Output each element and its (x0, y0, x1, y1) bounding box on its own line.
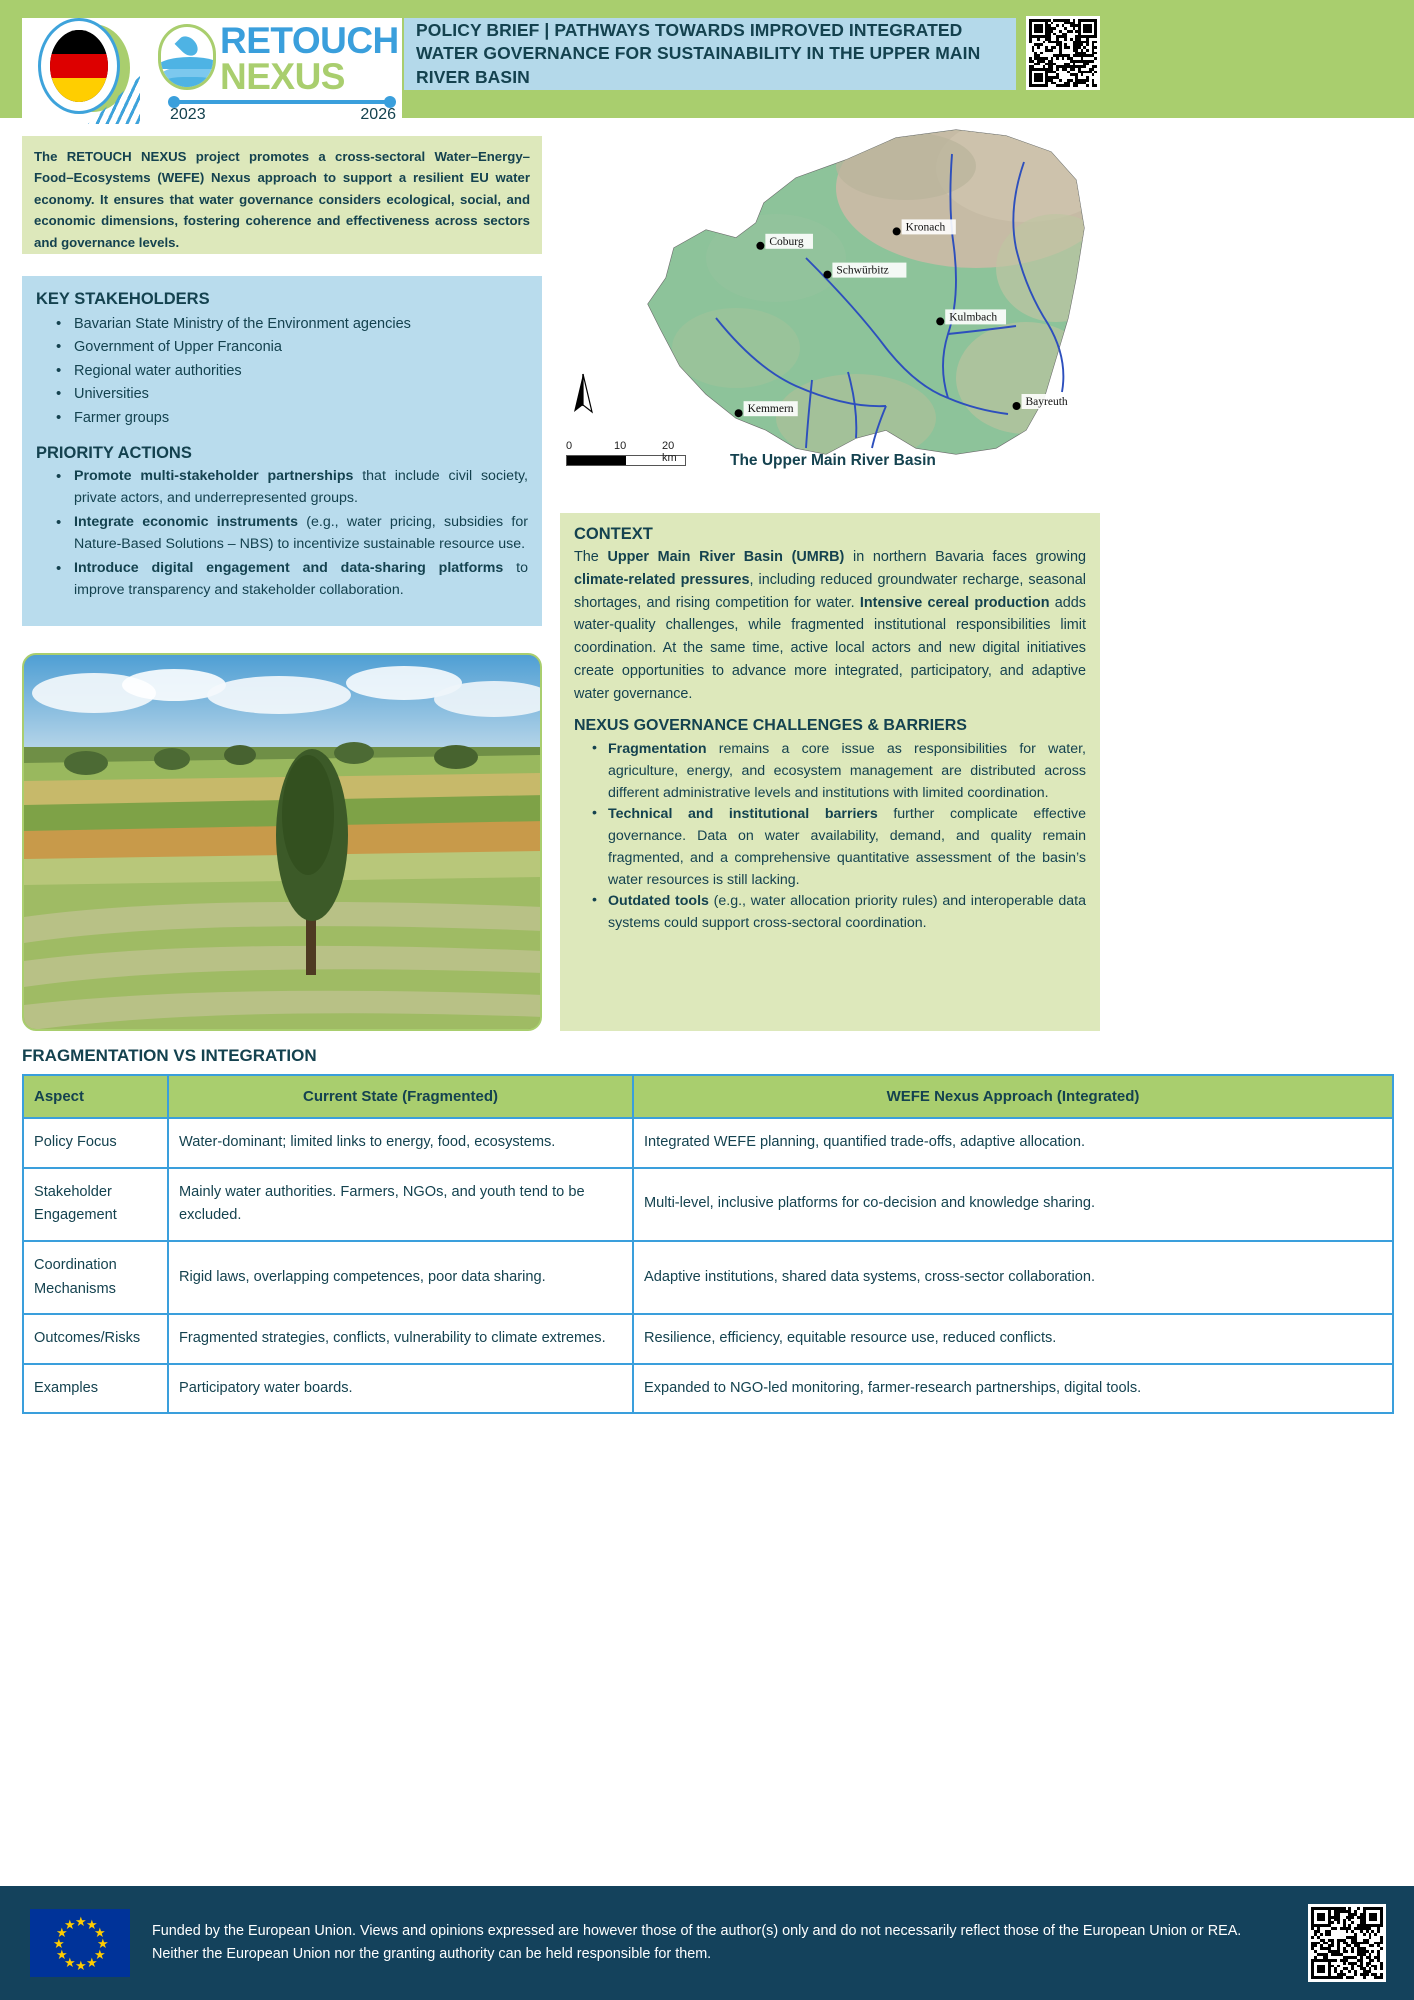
priority-action-item: Introduce digital engagement and data-sh… (54, 558, 528, 602)
page-title: POLICY BRIEF | PATHWAYS TOWARDS IMPROVED… (416, 19, 1004, 90)
table-cell-aspect: Policy Focus (23, 1118, 168, 1168)
challenge-item: Outdated tools (e.g., water allocation p… (590, 891, 1086, 934)
intro-text: The RETOUCH NEXUS project promotes a cro… (34, 146, 530, 253)
map-city-label: Kronach (906, 221, 946, 233)
project-intro-panel: The RETOUCH NEXUS project promotes a cro… (22, 136, 542, 254)
table-cell-current: Fragmented strategies, conflicts, vulner… (168, 1314, 633, 1364)
upper-main-river-basin-map: CoburgKronachSchwürbitzKulmbachKemmernBa… (556, 118, 1101, 478)
scale-label-max: 20 km (662, 440, 686, 464)
table-row: Policy FocusWater-dominant; limited link… (23, 1118, 1393, 1168)
stakeholder-item: Universities (54, 383, 528, 406)
context-panel: CONTEXT The Upper Main River Basin (UMRB… (560, 513, 1100, 1031)
field-landscape-photo (22, 653, 542, 1031)
table-cell-current: Mainly water authorities. Farmers, NGOs,… (168, 1168, 633, 1241)
logo-word-retouch: RETOUCH (220, 22, 399, 59)
table-cell-current: Rigid laws, overlapping competences, poo… (168, 1241, 633, 1314)
table-cell-aspect: Stakeholder Engagement (23, 1168, 168, 1241)
scale-label-zero: 0 (566, 440, 572, 452)
table-cell-wefe: Integrated WEFE planning, quantified tra… (633, 1118, 1393, 1168)
fragmentation-vs-integration-table: Aspect Current State (Fragmented) WEFE N… (22, 1074, 1394, 1414)
challenges-heading: NEXUS GOVERNANCE CHALLENGES & BARRIERS (574, 717, 1086, 735)
stakeholder-item: Bavarian State Ministry of the Environme… (54, 313, 528, 336)
table-header-current: Current State (Fragmented) (168, 1075, 633, 1118)
table-cell-wefe: Expanded to NGO-led monitoring, farmer-r… (633, 1364, 1393, 1414)
context-heading: CONTEXT (574, 525, 1086, 544)
retouch-nexus-logo: RETOUCH NEXUS (158, 20, 398, 96)
key-stakeholders-heading: KEY STAKEHOLDERS (36, 290, 528, 309)
north-arrow-icon (570, 372, 596, 418)
map-city-marker (756, 242, 764, 250)
map-city-marker (936, 317, 944, 325)
stakeholder-item: Farmer groups (54, 407, 528, 430)
table-row: ExamplesParticipatory water boards.Expan… (23, 1364, 1393, 1414)
timeline-year-start: 2023 (170, 106, 206, 124)
stakeholder-item: Regional water authorities (54, 360, 528, 383)
qr-code-footer[interactable] (1308, 1904, 1386, 1982)
table-cell-aspect: Coordination Mechanisms (23, 1241, 168, 1314)
map-city-marker (1013, 402, 1021, 410)
key-stakeholders-list: Bavarian State Ministry of the Environme… (54, 313, 528, 430)
priority-actions-list: Promote multi-stakeholder partnerships t… (54, 466, 528, 601)
map-caption: The Upper Main River Basin (730, 452, 936, 470)
eu-funding-footer: ★★★★★★★★★★★★ Funded by the European Unio… (0, 1886, 1414, 2000)
eu-star-icon: ★ (75, 1959, 87, 1972)
table-cell-aspect: Examples (23, 1364, 168, 1414)
challenges-list: Fragmentation remains a core issue as re… (590, 739, 1086, 934)
map-city-marker (823, 271, 831, 279)
eu-star-icon: ★ (64, 1918, 76, 1931)
priority-action-item: Promote multi-stakeholder partnerships t… (54, 466, 528, 510)
project-timeline: 2023 2026 (168, 96, 396, 122)
eu-star-icon: ★ (86, 1956, 98, 1969)
map-city-label: Bayreuth (1026, 396, 1068, 408)
policy-brief-title-panel: POLICY BRIEF | PATHWAYS TOWARDS IMPROVED… (404, 18, 1016, 90)
table-header-aspect: Aspect (23, 1075, 168, 1118)
map-city-marker (893, 227, 901, 235)
table-cell-current: Water-dominant; limited links to energy,… (168, 1118, 633, 1168)
qr-code-header[interactable] (1026, 16, 1100, 90)
table-row: Stakeholder EngagementMainly water autho… (23, 1168, 1393, 1241)
map-city-label: Coburg (769, 236, 804, 248)
timeline-year-end: 2026 (360, 106, 396, 124)
map-city-label: Kulmbach (949, 311, 997, 323)
table-row: Coordination MechanismsRigid laws, overl… (23, 1241, 1393, 1314)
map-city-label: Schwürbitz (836, 265, 888, 277)
map-graphic: CoburgKronachSchwürbitzKulmbachKemmernBa… (556, 118, 1101, 478)
table-cell-wefe: Resilience, efficiency, equitable resour… (633, 1314, 1393, 1364)
funding-disclaimer: Funded by the European Union. Views and … (152, 1920, 1288, 1966)
table-cell-aspect: Outcomes/Risks (23, 1314, 168, 1364)
policy-brief-page: RETOUCH NEXUS 2023 2026 POLICY BRIEF | P… (0, 0, 1414, 2000)
scale-label-mid: 10 (614, 440, 626, 452)
priority-action-item: Integrate economic instruments (e.g., wa… (54, 512, 528, 556)
table-cell-wefe: Adaptive institutions, shared data syste… (633, 1241, 1393, 1314)
priority-actions-heading: PRIORITY ACTIONS (36, 444, 528, 463)
eu-star-icon: ★ (75, 1915, 87, 1928)
table-header-row: Aspect Current State (Fragmented) WEFE N… (23, 1075, 1393, 1118)
context-paragraph: The Upper Main River Basin (UMRB) in nor… (574, 546, 1086, 705)
table-cell-wefe: Multi-level, inclusive platforms for co-… (633, 1168, 1393, 1241)
eu-flag-icon: ★★★★★★★★★★★★ (30, 1909, 130, 1977)
table-title: FRAGMENTATION VS INTEGRATION (22, 1046, 317, 1066)
water-drop-icon (158, 24, 216, 90)
stakeholders-actions-panel: KEY STAKEHOLDERS Bavarian State Ministry… (22, 276, 542, 626)
map-city-marker (735, 409, 743, 417)
logo-word-nexus: NEXUS (220, 58, 345, 95)
challenge-item: Fragmentation remains a core issue as re… (590, 739, 1086, 804)
map-scale-bar: 0 10 20 km (566, 440, 686, 466)
table-cell-current: Participatory water boards. (168, 1364, 633, 1414)
germany-flag-logo-icon (28, 14, 140, 118)
table-header-wefe: WEFE Nexus Approach (Integrated) (633, 1075, 1393, 1118)
stakeholder-item: Government of Upper Franconia (54, 336, 528, 359)
challenge-item: Technical and institutional barriers fur… (590, 804, 1086, 891)
table-row: Outcomes/RisksFragmented strategies, con… (23, 1314, 1393, 1364)
map-city-label: Kemmern (748, 403, 794, 415)
photo-illustration (24, 655, 542, 1031)
